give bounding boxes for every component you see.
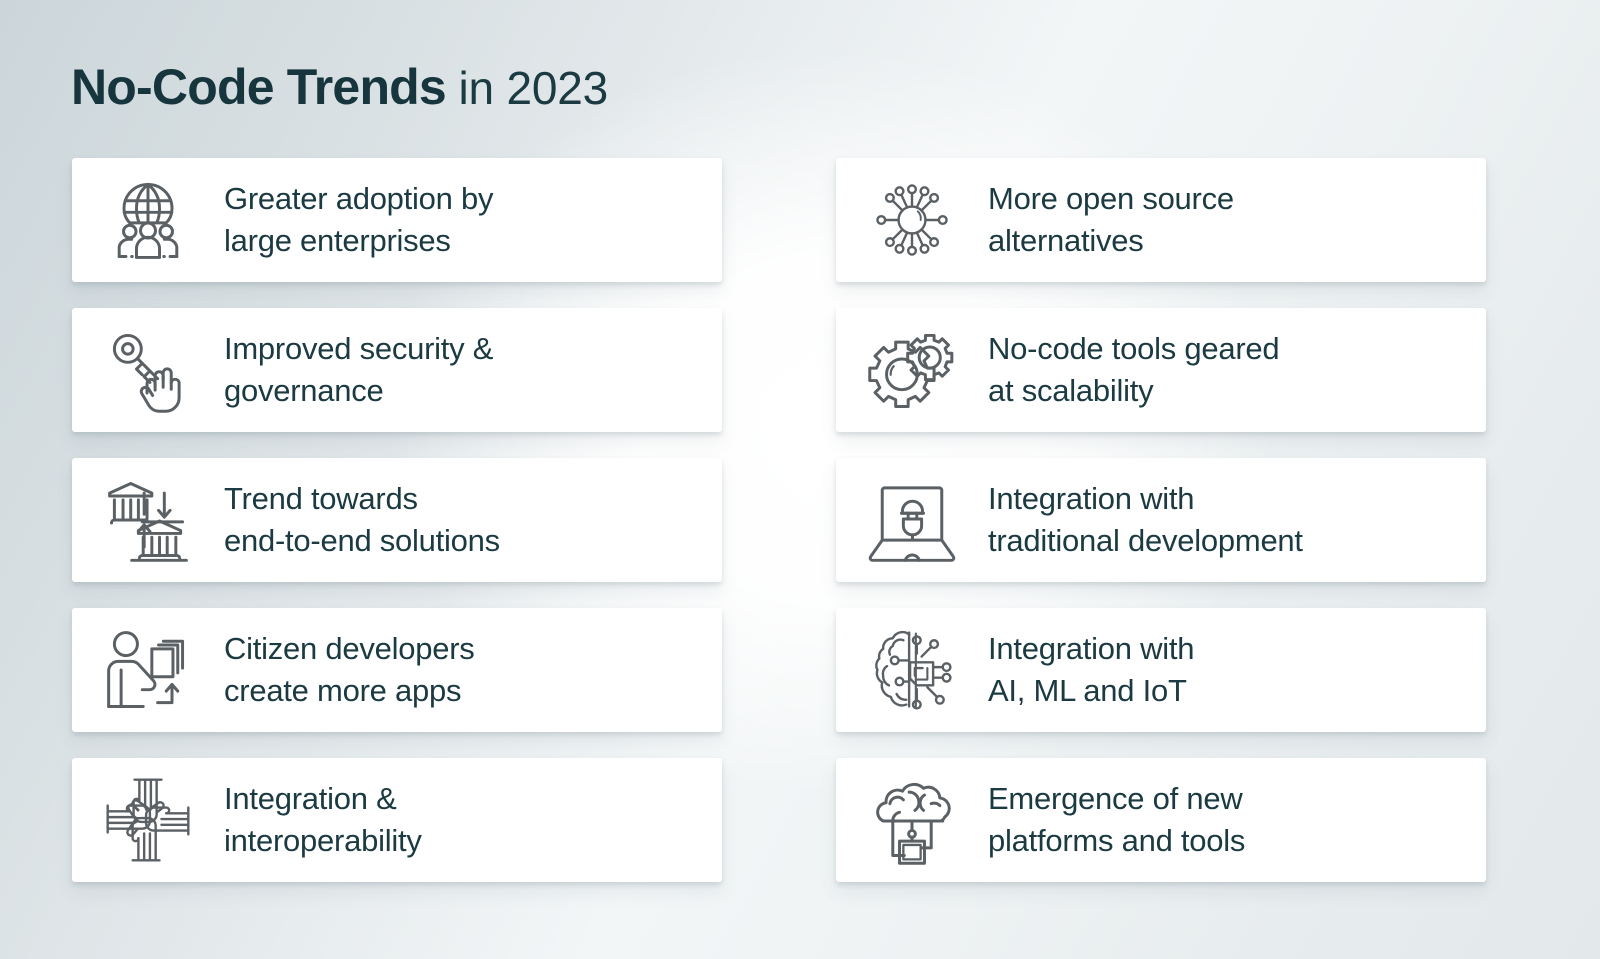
trend-column-right: More open source alternatives — [836, 158, 1486, 882]
trend-card-line2: interoperability — [224, 820, 422, 862]
trend-card-text: Integration with AI, ML and IoT — [988, 628, 1212, 712]
infographic-poster: No-Code Trends in 2023 — [0, 0, 1600, 959]
trend-card[interactable]: Integration with traditional development — [836, 458, 1486, 582]
trend-card-line1: Integration & — [224, 781, 397, 816]
page-title-light: in 2023 — [446, 62, 608, 114]
page-title-strong: No-Code Trends — [71, 59, 446, 115]
trend-card[interactable]: Emergence of new platforms and tools — [836, 758, 1486, 882]
trend-card-text: Integration with traditional development — [988, 478, 1321, 562]
trend-card-text: Emergence of new platforms and tools — [988, 778, 1263, 862]
bank-transfer-icon — [72, 458, 224, 582]
page-title: No-Code Trends in 2023 — [71, 58, 608, 116]
trend-card-line2: end-to-end solutions — [224, 520, 500, 562]
gears-icon — [836, 308, 988, 432]
trend-card-line1: Trend towards — [224, 481, 418, 516]
trend-card-text: More open source alternatives — [988, 178, 1252, 262]
trend-card-line1: No-code tools geared — [988, 331, 1279, 366]
trend-card-line1: Integration with — [988, 631, 1194, 666]
trend-card-line2: create more apps — [224, 670, 475, 712]
trend-card-line1: Emergence of new — [988, 781, 1242, 816]
trend-card-line2: platforms and tools — [988, 820, 1245, 862]
trend-card[interactable]: Integration & interoperability — [72, 758, 722, 882]
person-apps-icon — [72, 608, 224, 732]
four-hands-icon — [72, 758, 224, 882]
trend-card-line2: alternatives — [988, 220, 1234, 262]
trend-card-line2: governance — [224, 370, 493, 412]
trend-card-text: Citizen developers create more apps — [224, 628, 493, 712]
trend-card-line2: traditional development — [988, 520, 1303, 562]
globe-people-icon — [72, 158, 224, 282]
trend-card-text: Integration & interoperability — [224, 778, 440, 862]
brain-circuit-icon — [836, 608, 988, 732]
trend-card[interactable]: Improved security & governance — [72, 308, 722, 432]
trend-card-text: Greater adoption by large enterprises — [224, 178, 511, 262]
trend-card[interactable]: Citizen developers create more apps — [72, 608, 722, 732]
trend-card-line2: large enterprises — [224, 220, 493, 262]
trend-card-line1: Greater adoption by — [224, 181, 493, 216]
trend-card-text: Improved security & governance — [224, 328, 511, 412]
trend-card-text: Trend towards end-to-end solutions — [224, 478, 518, 562]
trend-card[interactable]: More open source alternatives — [836, 158, 1486, 282]
trend-card[interactable]: Integration with AI, ML and IoT — [836, 608, 1486, 732]
trend-card-line1: Integration with — [988, 481, 1194, 516]
laptop-plug-icon — [836, 458, 988, 582]
trend-card-line1: More open source — [988, 181, 1234, 216]
trend-card[interactable]: No-code tools geared at scalability — [836, 308, 1486, 432]
trend-card[interactable]: Trend towards end-to-end solutions — [72, 458, 722, 582]
trend-card-line2: AI, ML and IoT — [988, 670, 1194, 712]
trend-card-line1: Citizen developers — [224, 631, 475, 666]
trend-card[interactable]: Greater adoption by large enterprises — [72, 158, 722, 282]
cloud-devices-icon — [836, 758, 988, 882]
trend-card-text: No-code tools geared at scalability — [988, 328, 1297, 412]
trend-card-line2: at scalability — [988, 370, 1279, 412]
trend-card-line1: Improved security & — [224, 331, 493, 366]
key-hand-icon — [72, 308, 224, 432]
trend-column-left: Greater adoption by large enterprises — [72, 158, 722, 882]
network-hub-icon — [836, 158, 988, 282]
